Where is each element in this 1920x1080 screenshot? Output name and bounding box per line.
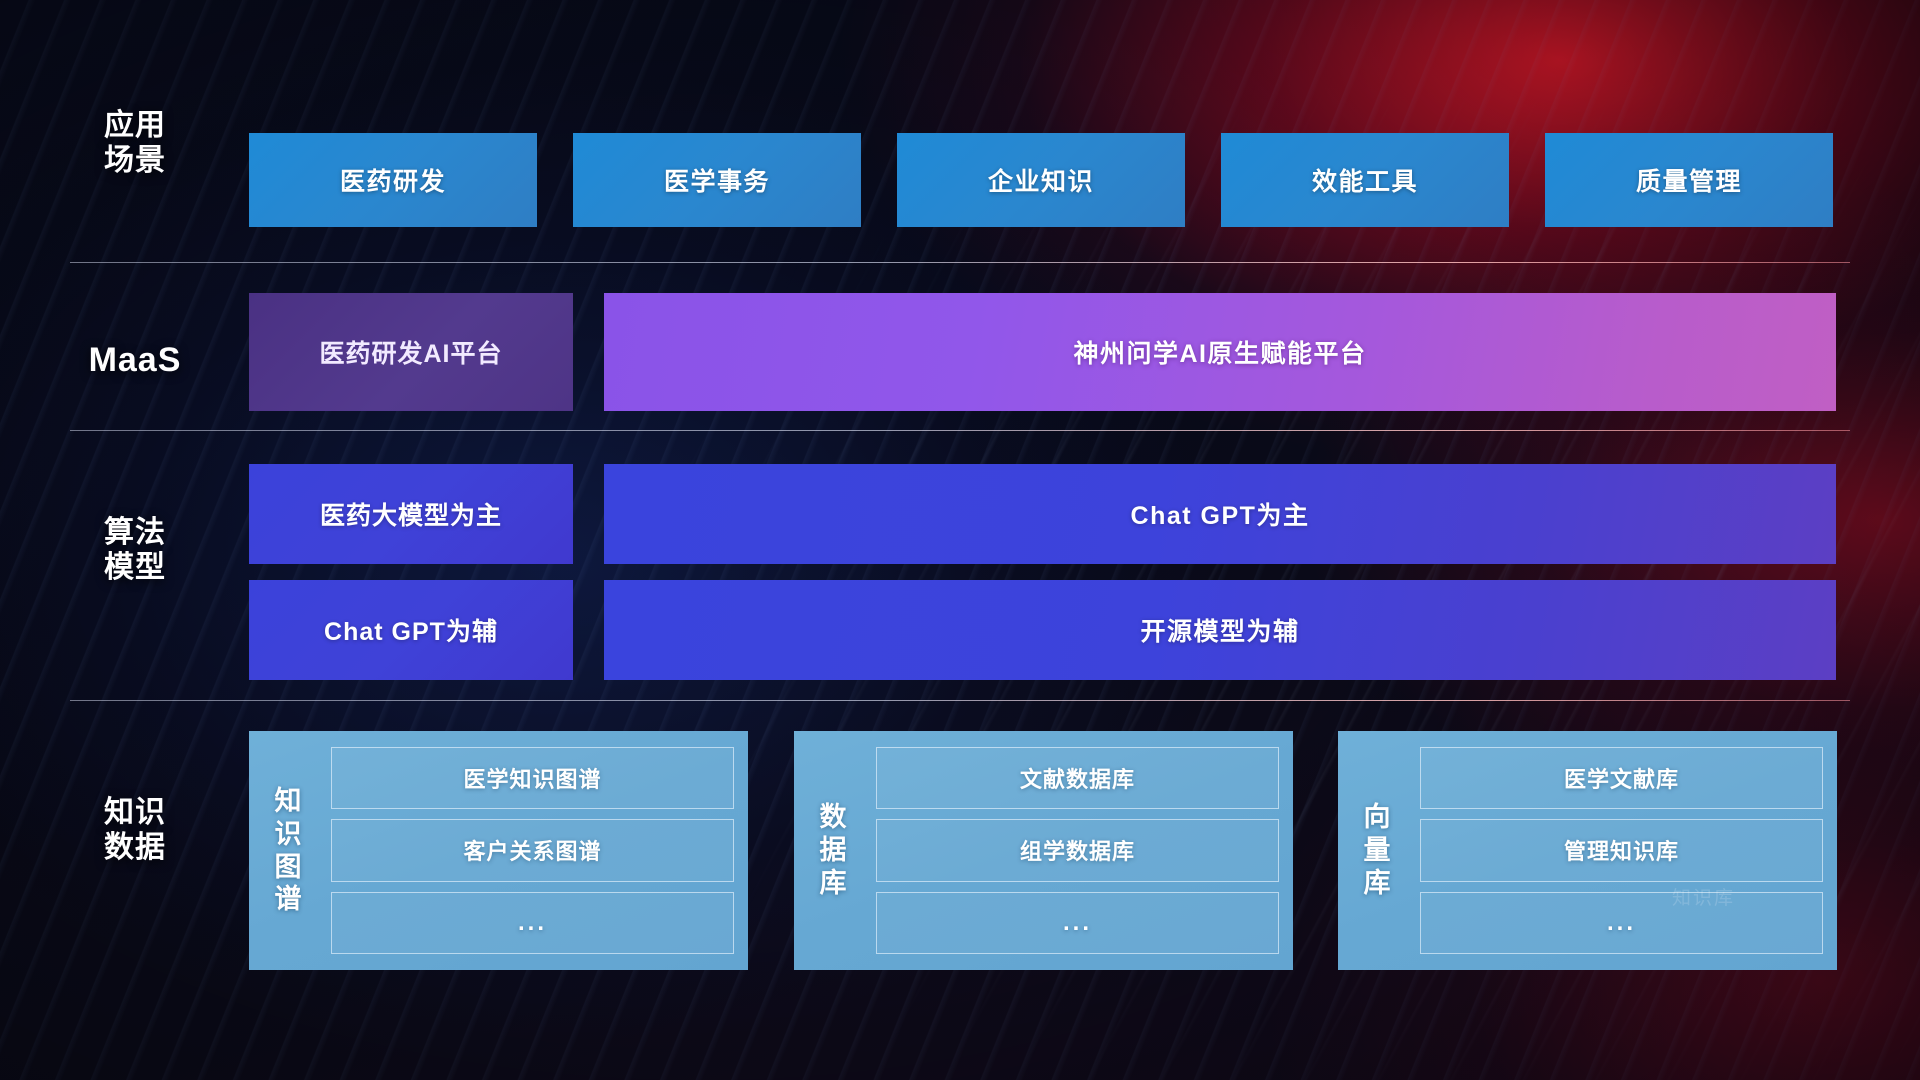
- knowledge-group-2: 向 量 库 医学文献库 管理知识库 ...: [1338, 731, 1837, 970]
- row-label-algorithm-line-1: 算法: [70, 515, 200, 550]
- knowledge-item-0-2[interactable]: ...: [331, 892, 734, 954]
- knowledge-group-2-title: 向 量 库: [1348, 747, 1406, 954]
- knowledge-group-1: 数 据 库 文献数据库 组学数据库 ...: [794, 731, 1293, 970]
- maas-platform-box-right[interactable]: 神州问学AI原生赋能平台: [604, 293, 1836, 411]
- divider-maas: [70, 430, 1850, 431]
- knowledge-item-1-0[interactable]: 文献数据库: [876, 747, 1279, 809]
- knowledge-group-1-title: 数 据 库: [804, 747, 862, 954]
- diagram-content: 应用 场景 医药研发 医学事务 企业知识 效能工具 质量管理 MaaS 医药研发…: [0, 0, 1920, 1080]
- knowledge-group-1-title-char-1: 据: [820, 834, 847, 867]
- diagram-canvas: 应用 场景 医药研发 医学事务 企业知识 效能工具 质量管理 MaaS 医药研发…: [0, 0, 1920, 1080]
- row-label-algorithm-line-2: 模型: [70, 550, 200, 585]
- row-label-algorithm: 算法 模型: [70, 515, 200, 586]
- knowledge-item-2-2[interactable]: ...: [1420, 892, 1823, 954]
- row-label-knowledge-line-2: 数据: [70, 830, 200, 865]
- algorithm-box-left-1[interactable]: Chat GPT为辅: [249, 580, 573, 680]
- row-label-maas-line-1: MaaS: [70, 340, 200, 380]
- knowledge-item-0-1[interactable]: 客户关系图谱: [331, 819, 734, 881]
- row-label-application-line-2: 场景: [70, 143, 200, 178]
- algorithm-box-left-0[interactable]: 医药大模型为主: [249, 464, 573, 564]
- knowledge-group-0-title: 知 识 图 谱: [259, 747, 317, 954]
- knowledge-group-0-title-char-2: 图: [275, 851, 302, 884]
- knowledge-group-0-items: 医学知识图谱 客户关系图谱 ...: [331, 747, 734, 954]
- algorithm-box-right-1[interactable]: 开源模型为辅: [604, 580, 1836, 680]
- knowledge-group-1-title-char-2: 库: [820, 867, 847, 900]
- knowledge-group-1-items: 文献数据库 组学数据库 ...: [876, 747, 1279, 954]
- knowledge-group-0: 知 识 图 谱 医学知识图谱 客户关系图谱 ...: [249, 731, 748, 970]
- row-label-knowledge-line-1: 知识: [70, 795, 200, 830]
- app-box-1[interactable]: 医学事务: [573, 133, 861, 227]
- knowledge-item-2-0[interactable]: 医学文献库: [1420, 747, 1823, 809]
- app-box-3[interactable]: 效能工具: [1221, 133, 1509, 227]
- knowledge-group-0-title-char-0: 知: [275, 785, 302, 818]
- knowledge-group-2-title-char-2: 库: [1364, 867, 1391, 900]
- knowledge-item-1-1[interactable]: 组学数据库: [876, 819, 1279, 881]
- maas-platform-box-left[interactable]: 医药研发AI平台: [249, 293, 573, 411]
- divider-algorithm: [70, 700, 1850, 701]
- knowledge-item-2-1[interactable]: 管理知识库: [1420, 819, 1823, 881]
- knowledge-item-1-2[interactable]: ...: [876, 892, 1279, 954]
- knowledge-group-2-title-char-1: 量: [1364, 834, 1391, 867]
- knowledge-group-0-title-char-1: 识: [275, 818, 302, 851]
- row-label-knowledge: 知识 数据: [70, 795, 200, 866]
- knowledge-group-0-title-char-3: 谱: [275, 883, 302, 916]
- knowledge-group-2-items: 医学文献库 管理知识库 ...: [1420, 747, 1823, 954]
- row-label-maas: MaaS: [70, 340, 200, 380]
- knowledge-item-0-0[interactable]: 医学知识图谱: [331, 747, 734, 809]
- app-box-2[interactable]: 企业知识: [897, 133, 1185, 227]
- algorithm-box-right-0[interactable]: Chat GPT为主: [604, 464, 1836, 564]
- divider-application: [70, 262, 1850, 263]
- app-box-0[interactable]: 医药研发: [249, 133, 537, 227]
- knowledge-group-1-title-char-0: 数: [820, 801, 847, 834]
- row-label-application-line-1: 应用: [70, 108, 200, 143]
- knowledge-group-2-title-char-0: 向: [1364, 801, 1391, 834]
- app-box-4[interactable]: 质量管理: [1545, 133, 1833, 227]
- row-label-application: 应用 场景: [70, 108, 200, 179]
